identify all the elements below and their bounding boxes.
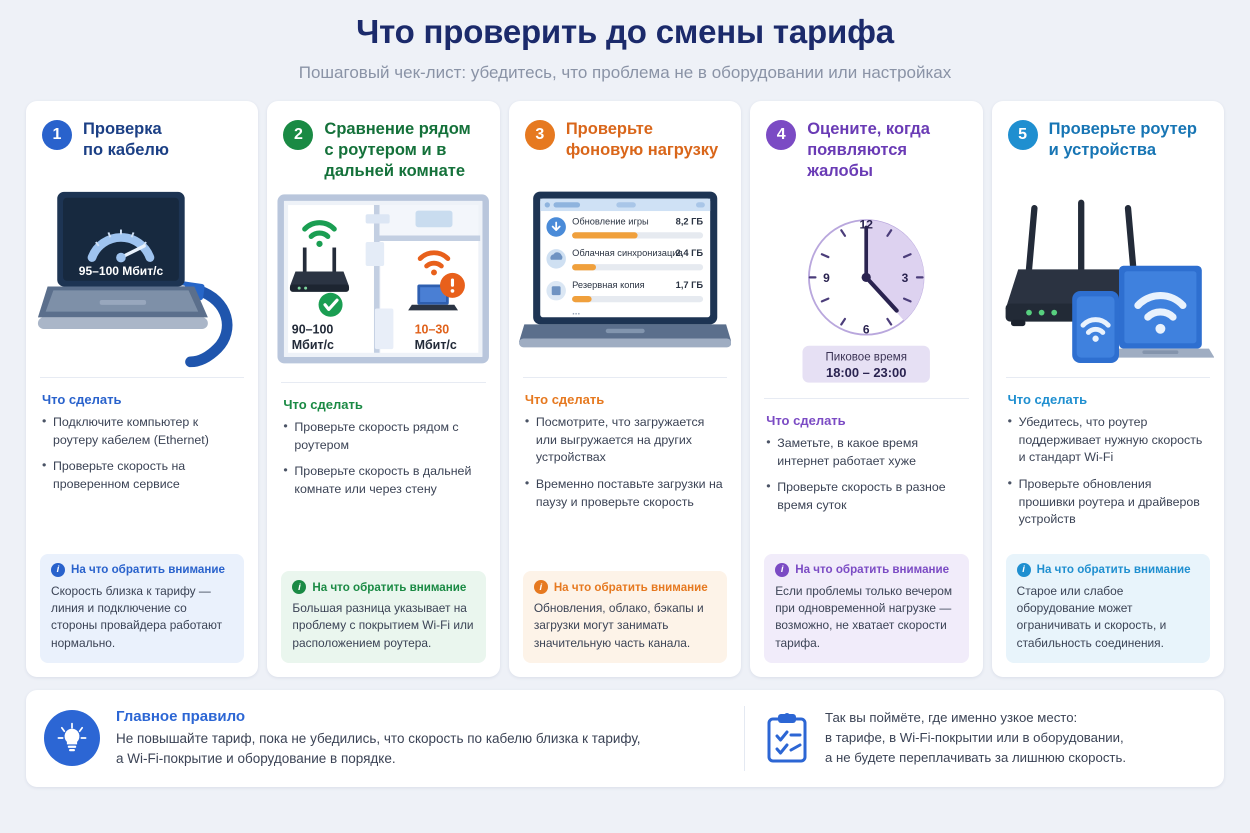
todo-label: Что сделать xyxy=(766,413,966,428)
note-header: i На что обратить внимание xyxy=(1017,563,1199,577)
progress-bar xyxy=(572,264,596,270)
info-icon: i xyxy=(1017,563,1031,577)
card-title: Оцените, когда появляются жалобы xyxy=(807,119,966,182)
download-size: 8,2 ГБ xyxy=(675,216,703,226)
header: Что проверить до смены тарифа Пошаговый … xyxy=(26,0,1224,83)
todo-list: Подключите компьютер к роутеру кабелем (… xyxy=(42,414,242,502)
footer-summary-block: Так вы поймёте, где именно узкое место: … xyxy=(765,708,1206,768)
note-box: i На что обратить внимание Обновления, о… xyxy=(523,571,727,663)
list-item: Временно поставьте загрузки на паузу и п… xyxy=(525,476,725,511)
info-icon: i xyxy=(775,563,789,577)
illustration-router-devices xyxy=(1002,169,1214,377)
note-text: Скорость близка к тарифу — линия и подкл… xyxy=(51,583,233,652)
card-step-3[interactable]: 3 Проверьте фоновую нагрузку Обновление … xyxy=(509,101,741,677)
card-step-5[interactable]: 5 Проверьте роутер и устройства xyxy=(992,101,1224,677)
far-speed-line1: 10–30 xyxy=(415,323,450,337)
card-step-2[interactable]: 2 Сравнение рядом с роутером и в дальней… xyxy=(267,101,499,677)
floorplan-icon: 90–100 Мбит/с xyxy=(277,174,489,382)
illustration-download-manager: Обновление игры 8,2 ГБ Облачная синхрони… xyxy=(519,169,731,377)
near-speed-line2: Мбит/с xyxy=(292,338,334,352)
note-title: На что обратить внимание xyxy=(795,563,949,576)
note-box: i На что обратить внимание Старое или сл… xyxy=(1006,554,1210,663)
step-number-badge: 3 xyxy=(525,120,555,150)
note-header: i На что обратить внимание xyxy=(775,563,957,577)
todo-label: Что сделать xyxy=(42,392,242,407)
card-3-header: 3 Проверьте фоновую нагрузку xyxy=(509,101,741,165)
note-box: i На что обратить внимание Большая разни… xyxy=(281,571,485,663)
list-item: Подключите компьютер к роутеру кабелем (… xyxy=(42,414,242,449)
card-5-header: 5 Проверьте роутер и устройства xyxy=(992,101,1224,165)
clock-mark-9: 9 xyxy=(823,271,830,285)
list-item: Проверьте скорость на проверенном сервис… xyxy=(42,458,242,493)
laptop-speedtest-icon: 95–100 Мбит/с xyxy=(36,169,248,377)
card-title: Проверьте фоновую нагрузку xyxy=(566,119,718,161)
step-number-badge: 5 xyxy=(1008,120,1038,150)
step-number-badge: 1 xyxy=(42,120,72,150)
checklist-cards: 1 Проверка по кабелю xyxy=(26,101,1224,677)
note-text: Обновления, облако, бэкапы и загрузки мо… xyxy=(534,600,716,652)
note-title: На что обратить внимание xyxy=(554,581,708,594)
card-step-1[interactable]: 1 Проверка по кабелю xyxy=(26,101,258,677)
download-size: 2,4 ГБ xyxy=(675,248,703,258)
todo-label: Что сделать xyxy=(525,392,725,407)
infographic-page: Что проверить до смены тарифа Пошаговый … xyxy=(0,0,1250,833)
note-text: Старое или слабое оборудование может огр… xyxy=(1017,583,1199,652)
check-badge-icon xyxy=(319,293,343,317)
todo-label: Что сделать xyxy=(1008,392,1208,407)
info-icon: i xyxy=(292,580,306,594)
todo-list: Посмотрите, что загружается или выгружае… xyxy=(525,414,725,520)
note-header: i На что обратить внимание xyxy=(534,580,716,594)
footer-rule: Главное правило Не повышайте тариф, пока… xyxy=(44,708,744,768)
list-item: Посмотрите, что загружается или выгружае… xyxy=(525,414,725,467)
clipboard-check-icon xyxy=(765,712,809,764)
note-title: На что обратить внимание xyxy=(71,563,225,576)
footer-summary: Главное правило Не повышайте тариф, пока… xyxy=(26,690,1224,787)
note-title: На что обратить внимание xyxy=(1037,563,1191,576)
page-title: Что проверить до смены тарифа xyxy=(26,13,1224,51)
peak-caption: Пиковое время xyxy=(826,352,907,364)
illustration-floorplan: 90–100 Мбит/с xyxy=(277,174,489,382)
laptop-downloads-icon: Обновление игры 8,2 ГБ Облачная синхрони… xyxy=(519,169,731,377)
card-title: Сравнение рядом с роутером и в дальней к… xyxy=(324,119,470,182)
download-name: Обновление игры xyxy=(572,216,649,226)
note-header: i На что обратить внимание xyxy=(51,563,233,577)
info-icon: i xyxy=(51,563,65,577)
phone-device xyxy=(1072,291,1119,363)
near-speed-line1: 90–100 xyxy=(292,323,334,337)
more-indicator: ... xyxy=(572,307,580,318)
card-step-4[interactable]: 4 Оцените, когда появляются жалобы xyxy=(750,101,982,677)
illustration-clock: 12 3 6 9 Пиковое время 18:00 – 23:00 xyxy=(760,190,972,398)
card-2-body: Что сделать Проверьте скорость рядом с р… xyxy=(267,383,499,571)
card-title: Проверка по кабелю xyxy=(83,119,169,161)
card-4-body: Что сделать Заметьте, в какое время инте… xyxy=(750,399,982,554)
list-item: Проверьте скорость в дальней комнате или… xyxy=(283,463,483,498)
card-3-body: Что сделать Посмотрите, что загружается … xyxy=(509,378,741,571)
todo-list: Убедитесь, что роутер поддерживает нужну… xyxy=(1008,414,1208,538)
note-box: i На что обратить внимание Скорость близ… xyxy=(40,554,244,663)
clock-mark-6: 6 xyxy=(863,323,870,337)
download-name: Облачная синхронизация xyxy=(572,248,682,258)
progress-bar xyxy=(572,296,591,302)
footer-rule-text: Не повышайте тариф, пока не убедились, ч… xyxy=(116,729,640,768)
progress-bar xyxy=(572,232,637,238)
illustration-laptop-ethernet: 95–100 Мбит/с xyxy=(36,169,248,377)
antennas xyxy=(1029,203,1133,270)
card-4-header: 4 Оцените, когда появляются жалобы xyxy=(750,101,982,186)
card-5-body: Что сделать Убедитесь, что роутер поддер… xyxy=(992,378,1224,554)
clock-mark-3: 3 xyxy=(902,271,909,285)
step-number-badge: 2 xyxy=(283,120,313,150)
far-speed-line2: Мбит/с xyxy=(415,338,457,352)
todo-label: Что сделать xyxy=(283,397,483,412)
note-header: i На что обратить внимание xyxy=(292,580,474,594)
list-item: Убедитесь, что роутер поддерживает нужну… xyxy=(1008,414,1208,467)
card-1-header: 1 Проверка по кабелю xyxy=(26,101,258,165)
list-item: Проверьте обновления прошивки роутера и … xyxy=(1008,476,1208,529)
footer-divider xyxy=(744,706,745,771)
card-title: Проверьте роутер и устройства xyxy=(1049,119,1197,161)
lightbulb-glyph xyxy=(55,721,89,755)
note-text: Если проблемы только вечером при одновре… xyxy=(775,583,957,652)
list-item: Заметьте, в какое время интернет работае… xyxy=(766,435,966,470)
download-name: Резервная копия xyxy=(572,280,645,290)
card-1-body: Что сделать Подключите компьютер к роуте… xyxy=(26,378,258,554)
lightbulb-icon xyxy=(44,710,100,766)
download-size: 1,7 ГБ xyxy=(675,280,703,290)
laptop-device xyxy=(1106,266,1214,358)
footer-summary-text: Так вы поймёте, где именно узкое место: … xyxy=(825,708,1126,768)
list-item: Проверьте скорость в разное время суток xyxy=(766,479,966,514)
todo-list: Проверьте скорость рядом с роутером Пров… xyxy=(283,419,483,507)
note-title: На что обратить внимание xyxy=(312,581,466,594)
speed-readout: 95–100 Мбит/с xyxy=(79,264,164,278)
todo-list: Заметьте, в какое время интернет работае… xyxy=(766,435,966,523)
info-icon: i xyxy=(534,580,548,594)
page-subtitle: Пошаговый чек-лист: убедитесь, что пробл… xyxy=(26,63,1224,83)
note-text: Большая разница указывает на проблему с … xyxy=(292,600,474,652)
note-box: i На что обратить внимание Если проблемы… xyxy=(764,554,968,663)
step-number-badge: 4 xyxy=(766,120,796,150)
footer-rule-text-block: Главное правило Не повышайте тариф, пока… xyxy=(116,708,640,768)
clock-peak-icon: 12 3 6 9 Пиковое время 18:00 – 23:00 xyxy=(760,190,972,398)
router-devices-icon xyxy=(1002,169,1214,377)
list-item: Проверьте скорость рядом с роутером xyxy=(283,419,483,454)
footer-rule-title: Главное правило xyxy=(116,708,640,725)
peak-value: 18:00 – 23:00 xyxy=(826,365,906,380)
